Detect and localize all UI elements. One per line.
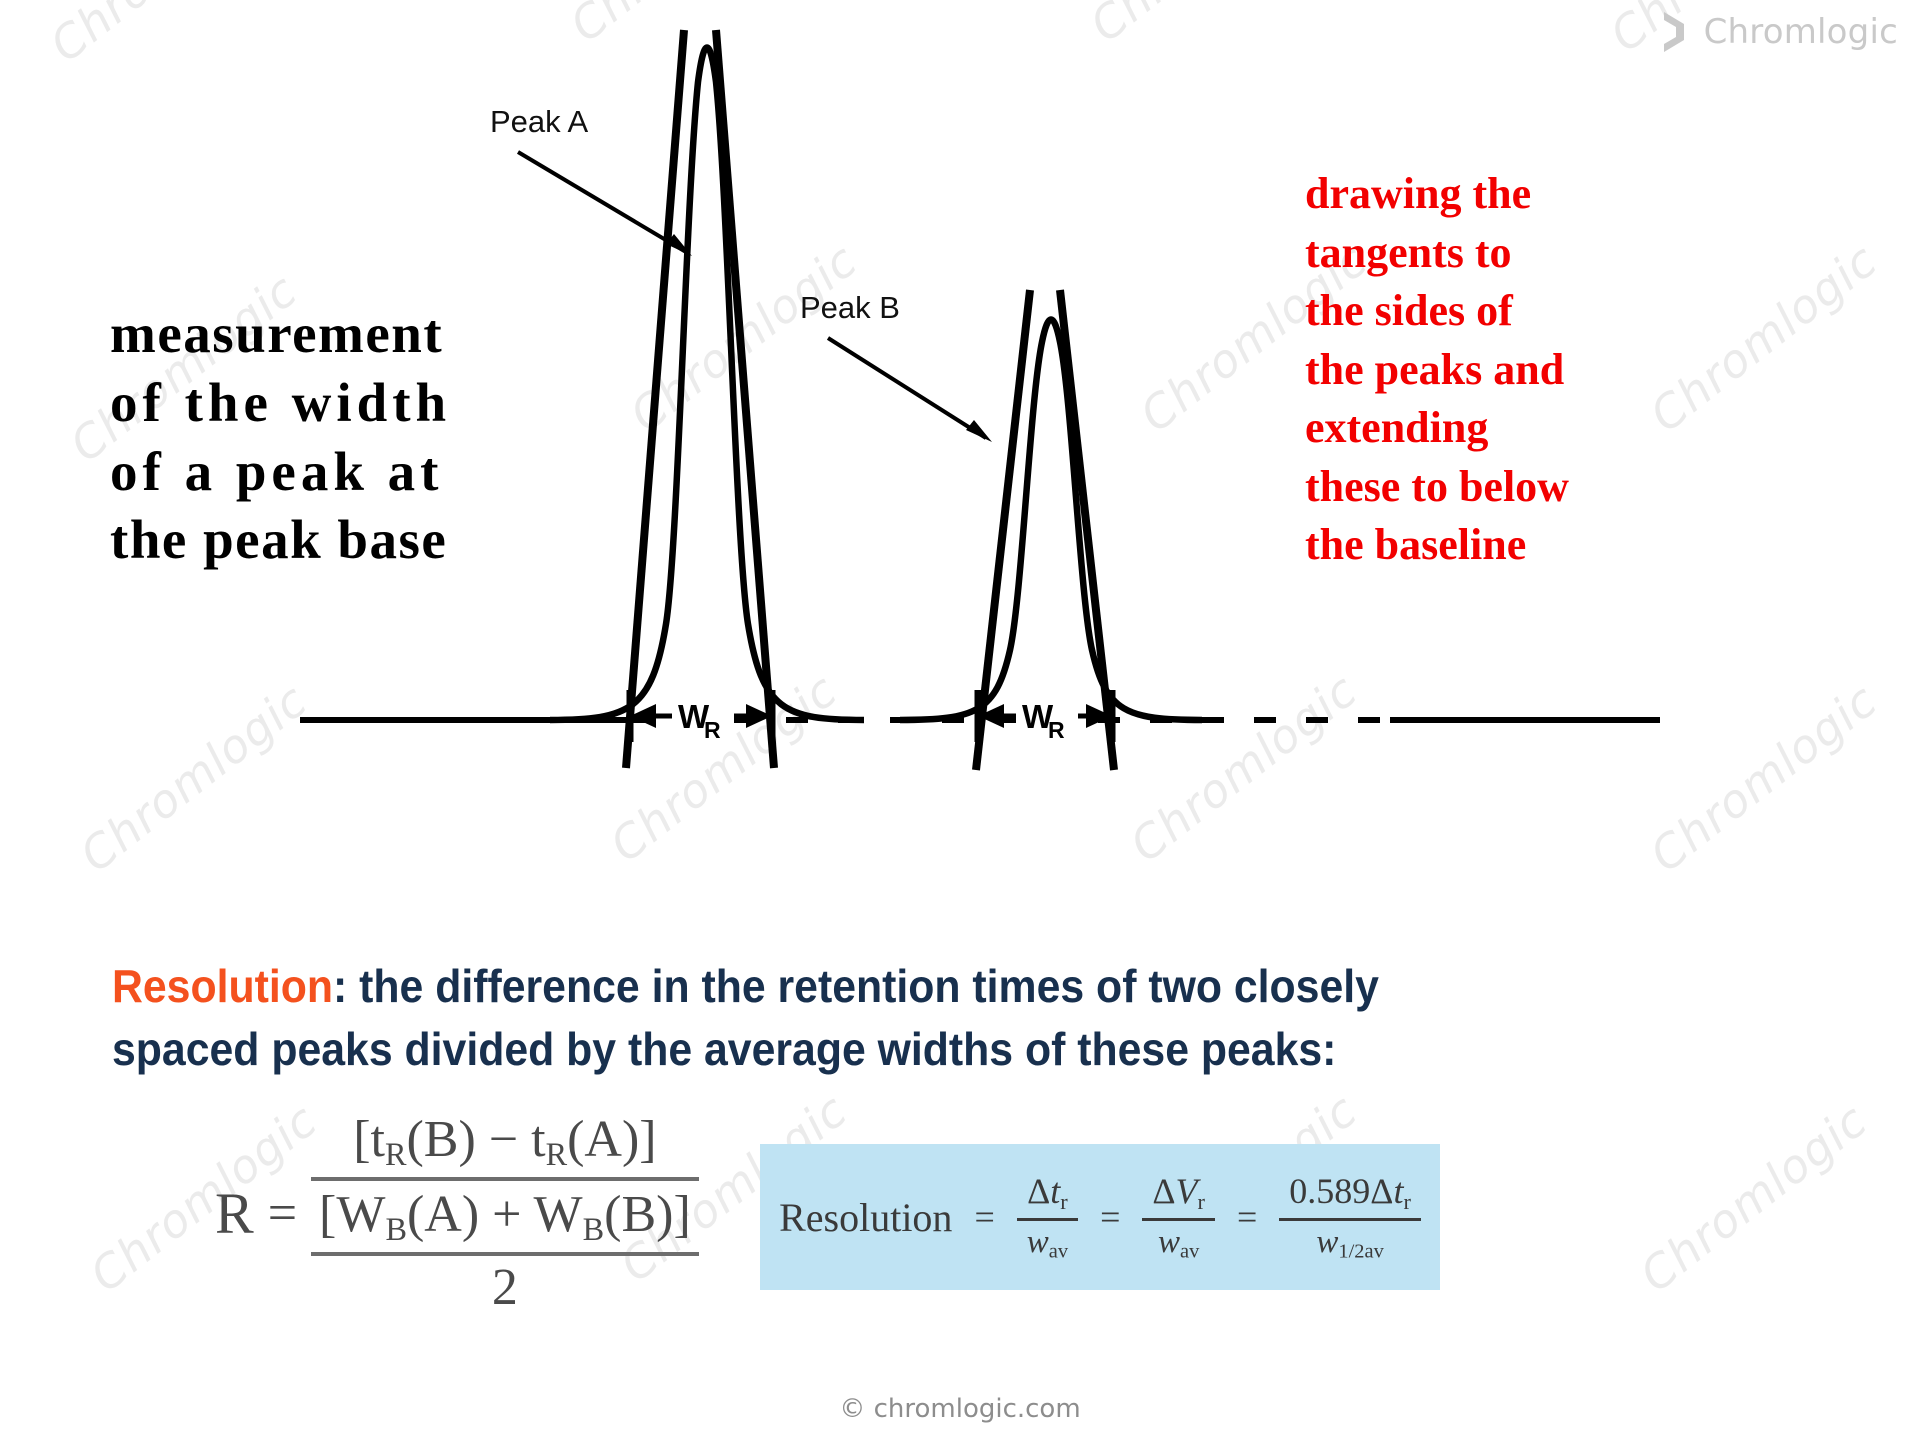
note-line-2: tangents to (1305, 224, 1725, 283)
resolution-formula-left: R = [tR(B) − tR(A)] [WB(A) + WB(B)] (215, 1110, 699, 1317)
formula-equals: = (268, 1184, 297, 1243)
title-line-1: measurement (110, 300, 630, 369)
footer-credit: © chromlogic.com (0, 1394, 1920, 1424)
watermark-text: Chromlogic (70, 673, 317, 883)
resolution-definition: Resolution: the difference in the retent… (112, 955, 1693, 1082)
formula-lhs: R (215, 1180, 254, 1247)
watermark-text: Chromlogic (1640, 673, 1887, 883)
title-line-4: the peak base (110, 506, 630, 575)
box-equals-1: = (974, 1196, 994, 1238)
peak-a-tangent-left (626, 30, 684, 768)
width-marker-a: W R (630, 690, 772, 743)
brand-logo[interactable]: Chromlogic (1660, 10, 1898, 54)
resolution-line-2: spaced peaks divided by the average widt… (112, 1023, 1336, 1075)
tangent-note: drawing the tangents to the sides of the… (1305, 165, 1725, 575)
box-fraction-3: 0.589Δtr w1/2av (1279, 1170, 1421, 1264)
title-line-3: of a peak at (110, 438, 630, 507)
note-line-6: these to below (1305, 458, 1725, 517)
peak-a-label: Peak A (490, 104, 589, 139)
width-sub-b: R (1048, 717, 1065, 743)
watermark-text: Chromlogic (40, 0, 287, 73)
peak-b-curve (900, 320, 1202, 721)
box-equals-3: = (1237, 1196, 1257, 1238)
note-line-4: the peaks and (1305, 341, 1725, 400)
resolution-line-1: : the difference in the retention times … (333, 960, 1379, 1012)
note-line-1: drawing the (1305, 165, 1725, 224)
formula-outer-denominator: 2 (492, 1256, 518, 1317)
formula-numerator: [tR(B) − tR(A)] (345, 1110, 664, 1177)
slide-canvas: Chromlogic Chromlogic Chromlogic Chromlo… (0, 0, 1920, 1440)
box-fraction-1: Δtr wav (1017, 1170, 1078, 1264)
note-line-5: extending (1305, 399, 1725, 458)
brand-name: Chromlogic (1704, 12, 1898, 52)
title-line-2: of the width (110, 369, 630, 438)
peak-b-label: Peak B (800, 290, 900, 325)
box-fraction-2: ΔVr wav (1142, 1170, 1215, 1264)
resolution-formula-box: Resolution = Δtr wav = ΔVr wav = 0.589Δt… (760, 1144, 1440, 1290)
watermark-text: Chromlogic (1630, 1093, 1877, 1303)
resolution-keyword: Resolution (112, 960, 333, 1012)
note-line-3: the sides of (1305, 282, 1725, 341)
page-title: measurement of the width of a peak at th… (110, 300, 630, 575)
width-marker-b: W R (978, 690, 1112, 743)
peak-b-arrow (828, 338, 992, 442)
peak-a-tangent-right (716, 30, 774, 768)
box-word: Resolution (779, 1194, 952, 1241)
note-line-7: the baseline (1305, 516, 1725, 575)
width-sub-a: R (704, 717, 721, 743)
formula-outer-fraction: [tR(B) − tR(A)] [WB(A) + WB(B)] 2 (311, 1110, 699, 1317)
formula-denominator: [WB(A) + WB(B)] (311, 1181, 699, 1250)
bracket-logo-icon (1660, 10, 1694, 54)
peak-a-arrow (518, 152, 692, 256)
box-equals-2: = (1100, 1196, 1120, 1238)
